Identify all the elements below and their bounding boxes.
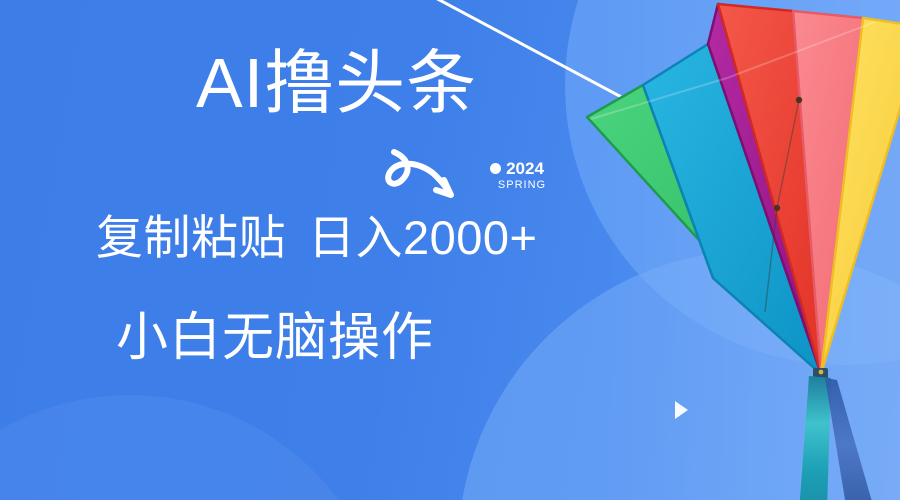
bullet-dot-icon [490,163,501,174]
kite-bridle-knot-lower [774,205,780,211]
subtitle-line-one: 复制粘贴日入2000+ [96,214,538,261]
season-year-row: 2024 [490,160,544,177]
subtitle-part-copypaste: 复制粘贴 [96,211,286,264]
kite-tail-blue [825,378,875,500]
kite-illustration [585,0,900,500]
subtitle-line-two: 小白无脑操作 [116,312,434,364]
play-triangle-icon [675,401,688,419]
season-badge: 2024 SPRING [478,160,556,191]
promo-poster: AI撸头条 2024 SPRING 复制粘贴日入2000+ 小白无脑操作 [0,0,900,500]
background-circle-low [0,395,390,500]
curly-arrow-icon [378,142,478,212]
season-label: SPRING [498,180,546,191]
kite-panel-group [587,4,900,374]
kite-bridle-knot-upper [796,97,802,103]
season-year: 2024 [506,160,544,177]
kite-tail-grommet [819,370,824,375]
page-title: AI撸头条 [196,48,477,118]
kite-tail-teal [799,376,831,500]
subtitle-part-income: 日入2000+ [308,211,538,264]
